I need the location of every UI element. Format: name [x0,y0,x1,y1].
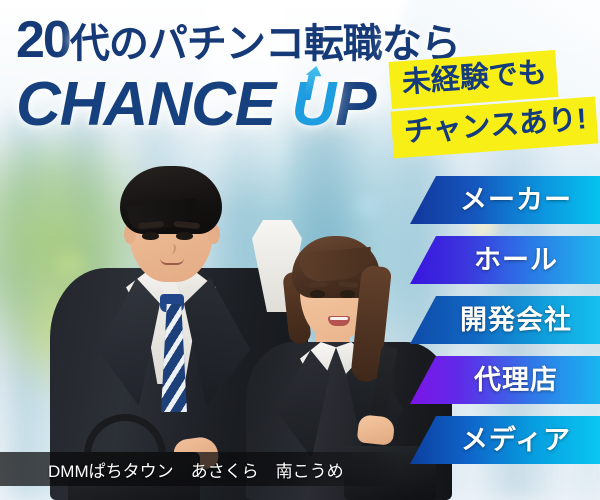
headline-number: 20 [16,11,70,69]
category-label-hall: ホール [452,247,558,274]
experience-badge: 未経験でも チャンスあり! [390,56,600,160]
category-label-agency: 代理店 [452,367,558,394]
male-hair [120,166,222,234]
male-eye-left [142,232,159,240]
category-item-media[interactable]: メディア [410,416,600,464]
female-mouth [328,316,350,326]
female-eye-right [340,290,355,298]
category-label-developer: 開発会社 [438,307,572,334]
credit-text: DMMぱちタウン あさくら 南こうめ [0,457,344,482]
category-item-developer[interactable]: 開発会社 [410,296,600,344]
category-label-media: メディア [439,427,571,454]
people-photo-group [0,140,420,500]
headline-body: 代のパチンコ転職 [70,22,382,66]
category-item-agency[interactable]: 代理店 [410,356,600,404]
logo-word-chance: CHANCE [16,70,275,139]
recruitment-banner: 20代のパチンコ転職なら CHANCE UP 未経験でも チャンスあり! メーカ… [0,0,600,500]
category-label-maker: メーカー [438,187,572,214]
category-item-hall[interactable]: ホール [410,236,600,284]
male-mouth [160,258,184,265]
logo-letter-p: P [335,70,375,139]
category-item-maker[interactable]: メーカー [410,176,600,224]
logo-letter-u-arrow-icon: U [291,70,335,139]
chance-up-logo: CHANCE UP [16,74,376,136]
male-eye-right [176,232,193,240]
credit-bar: DMMぱちタウン あさくら 南こうめ [0,452,400,486]
female-eye-left [310,290,325,298]
category-button-list: メーカー ホール 開発会社 代理店 メディア [410,176,600,476]
